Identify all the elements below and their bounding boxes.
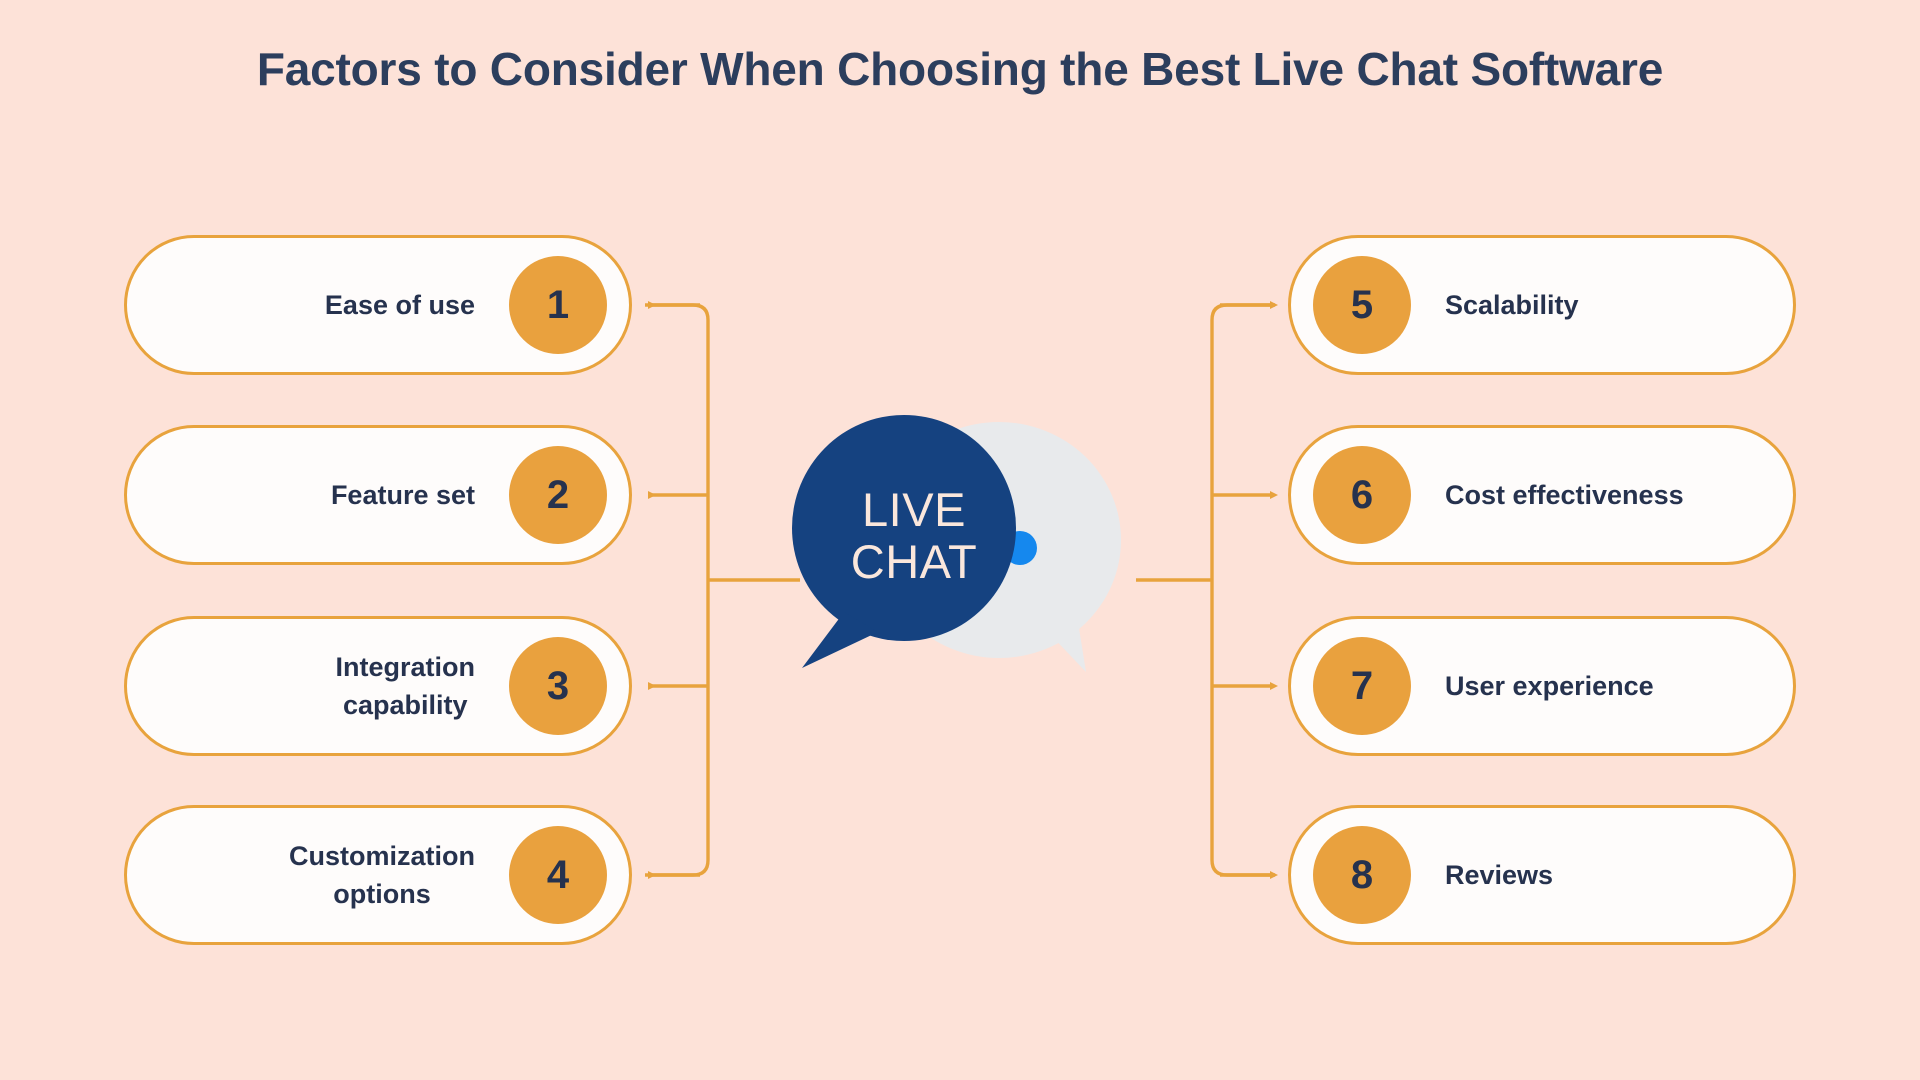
factor-label-5: Scalability	[1445, 286, 1579, 324]
factor-badge-6: 6	[1313, 446, 1411, 544]
factor-label-8: Reviews	[1445, 856, 1553, 894]
factor-label-1: Ease of use	[325, 286, 475, 324]
factor-badge-2: 2	[509, 446, 607, 544]
live-chat-logo: LIVE CHAT	[786, 400, 1134, 680]
page-title: Factors to Consider When Choosing the Be…	[210, 38, 1710, 100]
factor-label-3: Integration capability	[336, 648, 476, 724]
factor-card-8[interactable]: 8 Reviews	[1288, 805, 1796, 945]
factor-badge-3: 3	[509, 637, 607, 735]
factor-card-5[interactable]: 5 Scalability	[1288, 235, 1796, 375]
factor-card-1[interactable]: Ease of use 1	[124, 235, 632, 375]
factor-card-6[interactable]: 6 Cost effectiveness	[1288, 425, 1796, 565]
factor-card-7[interactable]: 7 User experience	[1288, 616, 1796, 756]
factor-label-4: Customization options	[289, 837, 475, 913]
factor-card-3[interactable]: Integration capability 3	[124, 616, 632, 756]
factor-card-2[interactable]: Feature set 2	[124, 425, 632, 565]
factor-badge-7: 7	[1313, 637, 1411, 735]
factor-card-4[interactable]: Customization options 4	[124, 805, 632, 945]
live-chat-logo-svg	[786, 400, 1134, 680]
infographic-canvas: Factors to Consider When Choosing the Be…	[0, 0, 1920, 1080]
factor-label-7: User experience	[1445, 667, 1654, 705]
factor-label-2: Feature set	[331, 476, 475, 514]
factor-badge-4: 4	[509, 826, 607, 924]
factor-badge-1: 1	[509, 256, 607, 354]
factor-badge-5: 5	[1313, 256, 1411, 354]
factor-badge-8: 8	[1313, 826, 1411, 924]
factor-label-6: Cost effectiveness	[1445, 476, 1684, 514]
